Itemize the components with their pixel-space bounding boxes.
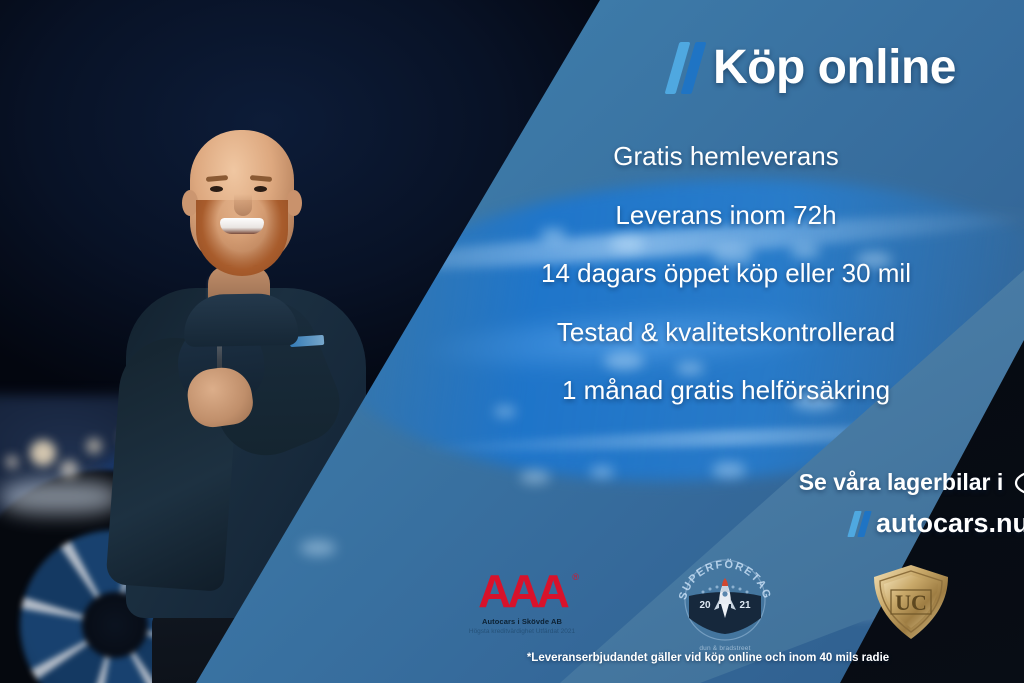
benefit-item: 14 dagars öppet köp eller 30 mil bbox=[0, 257, 1024, 290]
uc-shield-logo: UC bbox=[869, 562, 953, 642]
cta-lead-text: Se våra lagerbilar i bbox=[799, 469, 1004, 496]
double-slash-icon bbox=[672, 42, 699, 94]
360-badge-icon: 360 bbox=[1013, 462, 1024, 502]
benefit-item: Gratis hemleverans bbox=[0, 140, 1024, 173]
aaa-company-name: Autocars i Skövde AB bbox=[463, 617, 581, 626]
benefit-item: 1 månad gratis helförsäkring bbox=[0, 374, 1024, 407]
benefit-item: Leverans inom 72h bbox=[0, 199, 1024, 232]
benefits-list: Gratis hemleverans Leverans inom 72h 14 … bbox=[0, 140, 1024, 433]
aaa-mark: AAA bbox=[463, 568, 581, 614]
certification-logos: AAA ® Autocars i Skövde AB Högsta kredit… bbox=[0, 552, 1024, 652]
aaa-credit-logo: AAA ® Autocars i Skövde AB Högsta kredit… bbox=[463, 568, 581, 637]
website-url[interactable]: autocars.nu bbox=[876, 508, 1024, 539]
cta-block: Se våra lagerbilar i 360 autocars.nu bbox=[0, 462, 1024, 539]
superforetag-logo-wrap: SUPERFÖRETAG 20 21 bbox=[673, 552, 777, 652]
svg-text:UC: UC bbox=[895, 590, 927, 615]
superforetag-source: dun & bradstreet bbox=[673, 645, 777, 652]
headline-row: Köp online bbox=[672, 42, 956, 94]
svg-text:21: 21 bbox=[739, 600, 751, 611]
svg-text:20: 20 bbox=[699, 600, 711, 611]
benefit-item: Testad & kvalitetskontrollerad bbox=[0, 316, 1024, 349]
cta-url-row[interactable]: autocars.nu bbox=[428, 508, 1024, 539]
aaa-note: Högsta kreditvärdighet Utfärdat 2021 bbox=[463, 628, 581, 637]
cta-lead-row: Se våra lagerbilar i 360 bbox=[428, 462, 1024, 502]
double-slash-icon-small bbox=[851, 511, 868, 537]
superforetag-badge-icon: SUPERFÖRETAG 20 21 bbox=[673, 552, 777, 644]
panel-content: Köp online Gratis hemleverans Leverans i… bbox=[0, 0, 1024, 683]
page-title: Köp online bbox=[713, 44, 956, 92]
promo-banner: Köp online Gratis hemleverans Leverans i… bbox=[0, 0, 1024, 683]
disclaimer-text: *Leveranserbjudandet gäller vid köp onli… bbox=[0, 652, 1024, 664]
aaa-registered-icon: ® bbox=[572, 572, 579, 582]
